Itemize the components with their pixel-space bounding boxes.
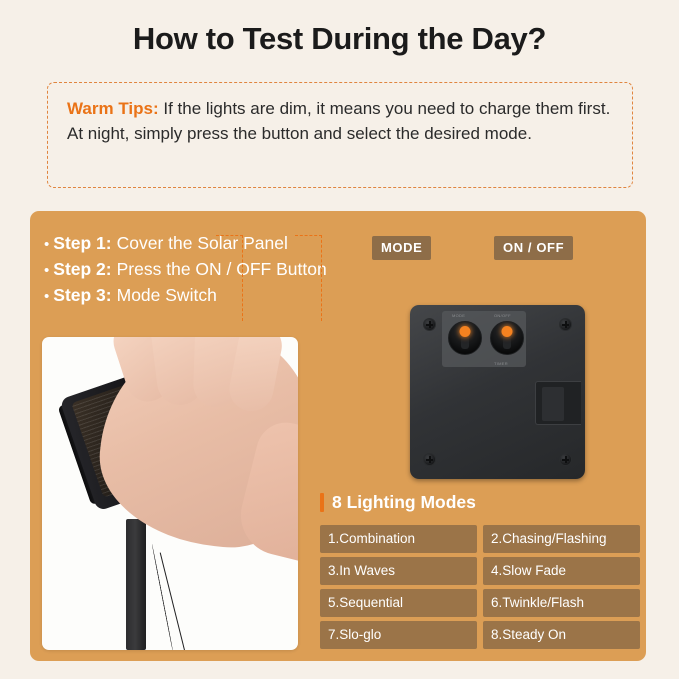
wrist bbox=[232, 416, 298, 576]
mode-cell: 3.In Waves bbox=[320, 557, 477, 585]
warm-tips-label: Warm Tips: bbox=[67, 99, 159, 118]
led-indicator-icon bbox=[460, 326, 471, 337]
mode-cell: 7.Slo-glo bbox=[320, 621, 477, 649]
connector-line-mode bbox=[242, 235, 243, 321]
screw-icon bbox=[559, 453, 572, 466]
photo-hand-covering-solar-panel bbox=[42, 337, 298, 650]
lighting-modes-grid: 1.Combination 2.Chasing/Flashing 3.In Wa… bbox=[320, 525, 640, 649]
connector-stub-mode bbox=[216, 235, 243, 236]
step-text: Mode Switch bbox=[117, 283, 217, 308]
connector-stub-onoff bbox=[295, 235, 322, 236]
warm-tips-box: Warm Tips: If the lights are dim, it mea… bbox=[47, 82, 633, 188]
page-title: How to Test During the Day? bbox=[0, 21, 679, 57]
stake-pole bbox=[126, 519, 146, 650]
step-label: Step 3: bbox=[53, 283, 111, 308]
bullet-icon: • bbox=[44, 284, 49, 309]
lighting-modes-heading: 8 Lighting Modes bbox=[320, 492, 476, 513]
led-indicator-icon bbox=[502, 326, 513, 337]
on-off-button[interactable] bbox=[490, 321, 524, 355]
callout-label-mode: MODE bbox=[372, 236, 431, 260]
wire bbox=[160, 553, 188, 650]
step-item: • Step 2: Press the ON / OFF Button bbox=[44, 257, 404, 283]
step-label: Step 1: bbox=[53, 231, 111, 256]
callout-label-onoff: ON / OFF bbox=[494, 236, 573, 260]
screw-icon bbox=[423, 453, 436, 466]
mode-cell: 6.Twinkle/Flash bbox=[483, 589, 640, 617]
connector-line-onoff bbox=[321, 235, 322, 321]
battery-slot bbox=[535, 381, 581, 425]
accent-bar bbox=[320, 493, 324, 512]
mode-cell: 1.Combination bbox=[320, 525, 477, 553]
mode-button[interactable] bbox=[448, 321, 482, 355]
device-micro-label-onoff: ON/OFF bbox=[494, 313, 511, 318]
step-text: Cover the Solar Panel bbox=[117, 231, 288, 256]
device-micro-label-timer: TIMER bbox=[494, 361, 508, 366]
mode-cell: 4.Slow Fade bbox=[483, 557, 640, 585]
steps-list: • Step 1: Cover the Solar Panel • Step 2… bbox=[44, 231, 404, 309]
control-box-illustration: MODE ON/OFF TIMER bbox=[410, 305, 585, 479]
hand bbox=[91, 337, 298, 556]
mode-cell: 8.Steady On bbox=[483, 621, 640, 649]
bullet-icon: • bbox=[44, 258, 49, 283]
screw-icon bbox=[423, 318, 436, 331]
instruction-panel: • Step 1: Cover the Solar Panel • Step 2… bbox=[30, 211, 646, 661]
device-micro-label-mode: MODE bbox=[452, 313, 465, 318]
mode-cell: 2.Chasing/Flashing bbox=[483, 525, 640, 553]
step-label: Step 2: bbox=[53, 257, 111, 282]
step-text: Press the ON / OFF Button bbox=[117, 257, 327, 282]
bullet-icon: • bbox=[44, 232, 49, 257]
warm-tips-text: Warm Tips: If the lights are dim, it mea… bbox=[67, 96, 613, 146]
mode-cell: 5.Sequential bbox=[320, 589, 477, 617]
screw-icon bbox=[559, 318, 572, 331]
step-item: • Step 3: Mode Switch bbox=[44, 283, 404, 309]
lighting-modes-title: 8 Lighting Modes bbox=[332, 492, 476, 513]
photo-card bbox=[42, 337, 298, 650]
